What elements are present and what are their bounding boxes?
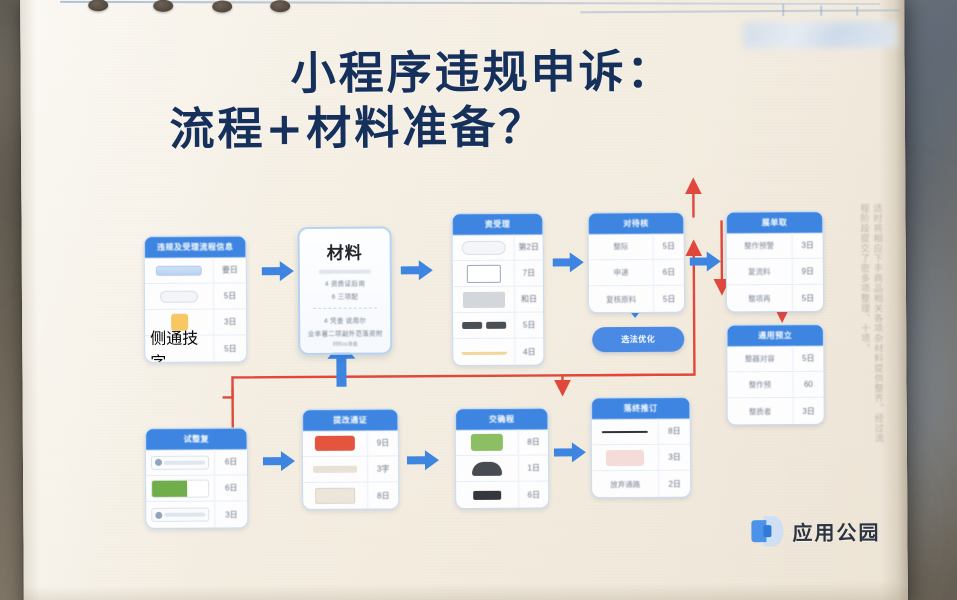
table-row[interactable]: 3日 [592,445,690,472]
table-row[interactable]: 5日 [145,283,246,310]
row-glyph [303,436,367,451]
table-row[interactable]: 5日 [453,313,543,340]
row-glyph [456,490,518,499]
paper-sheet: 小程序违规申诉： 流程+材料准备？ [20,0,908,600]
materials-line: 业芈著二项副外范落资附 [307,327,383,337]
row-glyph [592,430,658,432]
table-row[interactable]: 整项再 5日 [727,285,823,312]
row-label: 申递 [589,267,653,278]
materials-footnote: 材料xx准备 [307,340,383,347]
row-glyph [456,434,518,451]
row-label: 整作预 [727,379,792,390]
row-label: 复核原料 [589,293,653,304]
table-row[interactable]: 申递 6日 [589,260,684,287]
row-value: 5日 [213,335,246,361]
row-value: 6日 [518,481,548,507]
row-label: 整作预警 [727,240,792,251]
card-header: 落终推订 [592,398,690,420]
card-fix-materials[interactable]: 提改通证 9日 3字 8日 [302,408,400,510]
materials-line: 4 资质证后询 [307,277,383,287]
table-row[interactable]: 整质者 3日 [728,398,824,425]
row-glyph [145,290,213,302]
card-header: 试整复 [146,428,247,450]
table-row[interactable]: 整作预 60 [727,372,823,399]
row-glyph [453,349,514,355]
row-label: 整器对容 [727,353,792,364]
card-header: 交确程 [456,408,548,430]
row-value: 3日 [214,501,247,527]
table-row[interactable]: 8日 [456,429,548,456]
row-glyph [456,461,518,475]
row-value: 2日 [658,471,690,497]
row-value: 4日 [514,339,543,365]
row-value: 5日 [514,313,543,338]
row-label: 放弃通路 [592,478,658,489]
materials-line: 4 凭查 说用尔 [307,314,383,324]
card-rejected[interactable]: 试整复 6日 6日 3日 [145,427,249,529]
blue-arrow-5 [263,451,295,471]
row-label: 整际 [589,241,653,252]
brand-logo: 应用公园 [751,515,880,546]
row-glyph [453,322,514,329]
table-row[interactable]: 3日 [146,501,247,528]
row-value: 5日 [213,283,246,308]
row-value: 5日 [653,234,684,259]
row-value: 3日 [213,309,246,334]
row-label: 整项再 [727,292,792,303]
table-row[interactable]: 7日 [453,261,543,288]
row-glyph [453,291,514,307]
card-final-review[interactable]: 落终推订 8日 3日 放弃通路 2日 [591,397,692,499]
row-glyph [453,264,514,282]
table-row[interactable]: 和日 [453,287,543,314]
table-row[interactable]: 复流料 9日 [727,259,823,286]
row-value: 6日 [214,475,247,500]
row-value: 3字 [367,456,398,481]
table-row[interactable]: 6日 [146,449,247,476]
materials-title: 材料 [307,238,383,263]
vertical-side-note: 适时将相应下手商品相关各项杂材料提供整齐。经过流程阶段提交了密多项整理、十项。 [809,203,885,451]
row-glyph [453,240,514,254]
row-value: 8日 [658,419,690,444]
row-label: 复流料 [727,266,792,277]
materials-subtitle-bar [319,270,371,274]
brand-name: 应用公园 [792,516,880,546]
card-header: 资受理 [452,214,542,236]
table-row[interactable]: 9日 [303,430,398,457]
table-row[interactable]: 4日 [453,339,543,366]
card-header: 通用预立 [727,325,823,347]
row-value: 8日 [518,429,548,454]
row-value: 5日 [653,286,684,312]
card-header: 违规及受理流程信息 [145,236,246,258]
row-value: 3日 [658,445,690,470]
card-review[interactable]: 资受理 第2日 7日 和日 5日 4日 [451,213,544,367]
red-arrow-left-run [222,375,694,398]
table-row[interactable]: 8日 [303,482,398,509]
table-row[interactable]: 3字 [303,456,398,483]
row-value: 6日 [214,449,247,474]
row-glyph [303,466,367,473]
row-value: 第2日 [514,235,543,260]
row-value: 1日 [518,455,548,480]
row-glyph [146,508,214,522]
table-row[interactable]: 整作预警 3日 [727,233,823,260]
table-row[interactable]: 6日 [456,481,548,508]
row-value: 8日 [367,482,398,508]
card-header: 对待核 [588,213,683,235]
table-row[interactable]: 侧通技字 5日 [145,335,246,362]
blue-arrow-2 [401,260,433,280]
row-value: 9日 [367,430,398,455]
row-glyph [146,479,214,497]
row-value: 6日 [653,260,684,285]
card-resubmit[interactable]: 交确程 8日 1日 6日 [455,407,550,509]
table-row[interactable]: 放弃通路 2日 [592,471,690,498]
app-park-logo-icon [751,516,783,546]
table-row[interactable]: 第2日 [453,235,543,262]
blue-arrow-3 [553,252,584,272]
card-materials[interactable]: 材料 4 资质证后询 6 三项配 4 凭查 说用尔 业芈著二项副外范落资附 材料… [298,226,393,355]
materials-line: 6 三项配 [307,290,383,300]
row-glyph [303,488,367,504]
card-submit-appeal[interactable]: 违规及受理流程信息 要日 5日 3日 侧通技字 5日 [144,235,248,363]
row-value: 7日 [514,261,543,286]
flowchart: 违规及受理流程信息 要日 5日 3日 侧通技字 5日 材料 4 资质证后询 [20,0,908,600]
materials-footer: 4 凭查 说用尔 业芈著二项副外范落资附 材料xx准备 [307,314,383,347]
card-header: 提改通证 [303,409,398,431]
select-optimal-pill[interactable]: 选法优化 [592,327,684,353]
blue-arrow-6 [407,450,439,470]
card-result[interactable]: 对待核 整际 5日 申递 6日 复核原料 5日 [587,212,685,314]
materials-divider [313,308,377,309]
table-row[interactable]: 6日 [146,475,247,502]
table-row[interactable]: 1日 [456,455,548,482]
table-row[interactable]: 8日 [592,419,690,446]
row-glyph [146,455,214,469]
row-value: 要日 [213,257,246,282]
row-glyph [145,265,213,275]
row-label: 整质者 [728,405,793,416]
blue-arrow-7 [554,442,586,462]
table-row[interactable]: 复核原料 5日 [589,286,684,313]
table-row[interactable]: 要日 [145,257,246,284]
table-row[interactable]: 整器对容 5日 [727,346,823,373]
row-glyph [592,449,658,465]
row-value: 和日 [514,287,543,312]
table-row[interactable]: 整际 5日 [589,234,684,261]
card-header: 展单取 [726,212,822,234]
blue-arrow-1 [262,261,294,281]
